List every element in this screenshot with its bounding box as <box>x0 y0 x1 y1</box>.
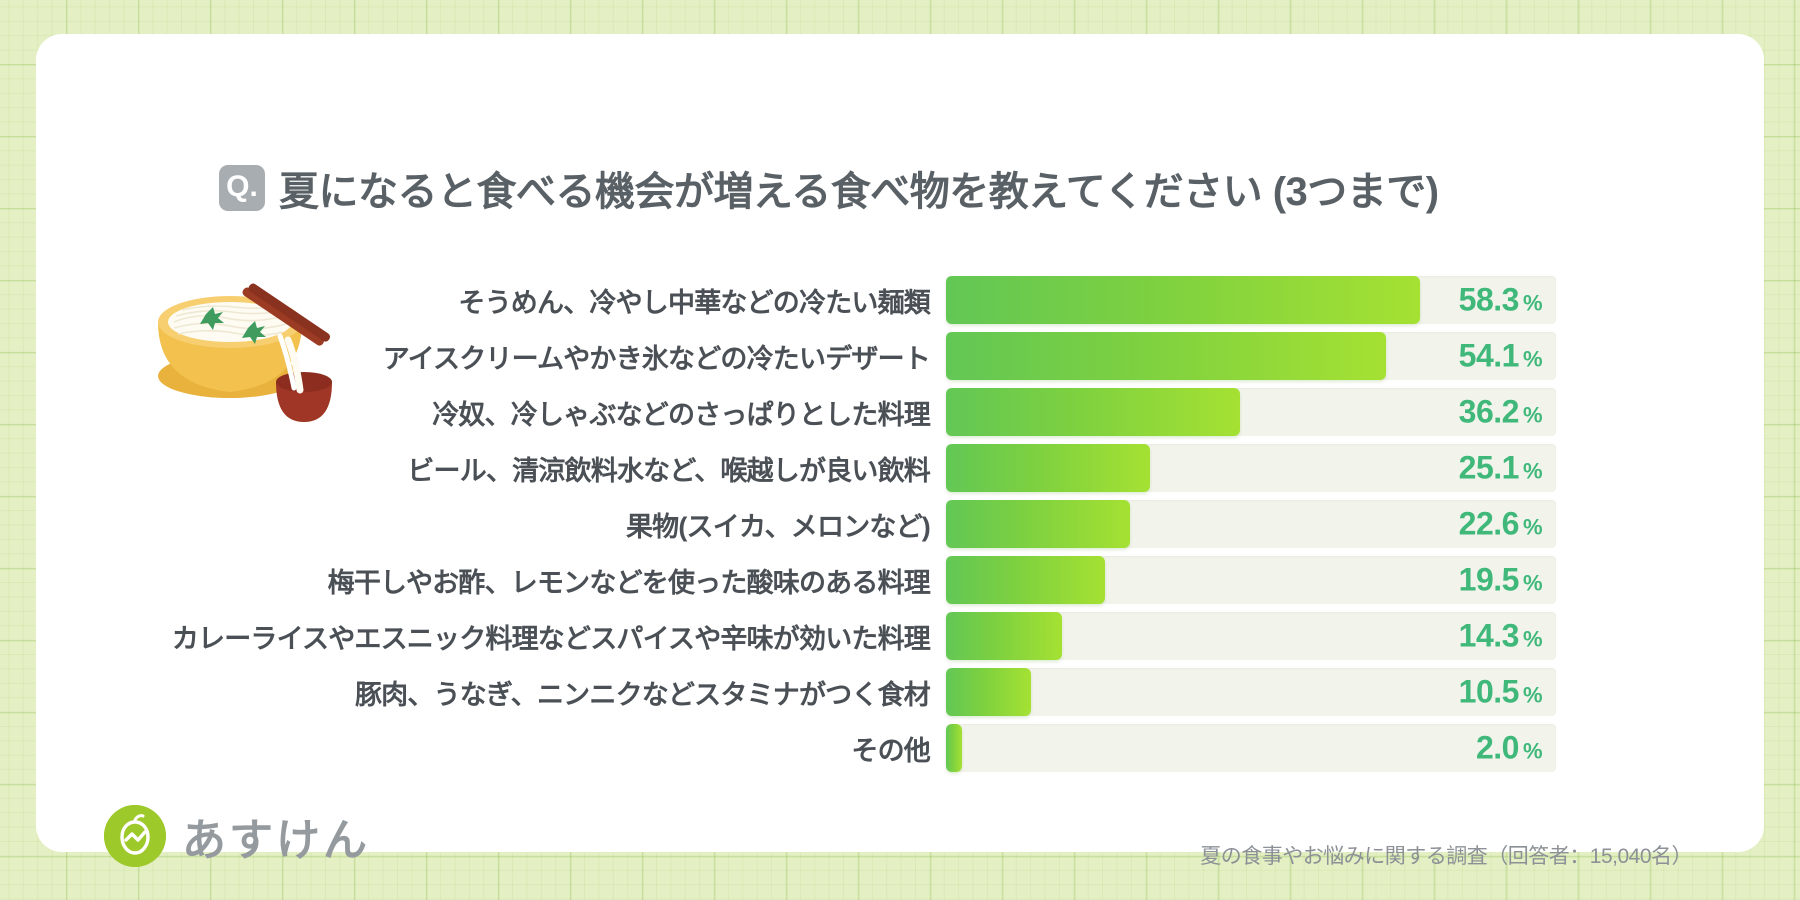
bar-track: 14.3% <box>946 612 1556 660</box>
bar-fill <box>946 500 1130 548</box>
bar-value-unit: % <box>1523 403 1542 428</box>
bar-value: 58.3% <box>1459 282 1542 319</box>
bar-fill <box>946 388 1240 436</box>
bar-value-number: 25.1 <box>1459 450 1519 486</box>
bar-value-number: 2.0 <box>1476 730 1519 766</box>
bar-track: 2.0% <box>946 724 1556 772</box>
bar-label: カレーライスやエスニック料理などスパイスや辛味が効いた料理 <box>36 617 946 656</box>
title-row: Q. 夏になると食べる機会が増える食べ物を教えてください (3つまで) <box>219 159 1439 217</box>
bar-value: 36.2% <box>1459 394 1542 431</box>
bar-fill <box>946 332 1386 380</box>
bar-label: その他 <box>36 729 946 768</box>
chart-row: アイスクリームやかき氷などの冷たいデザート 54.1% <box>36 328 1764 384</box>
chart-row: ビール、清涼飲料水など、喉越しが良い飲料 25.1% <box>36 440 1764 496</box>
bar-value: 2.0% <box>1476 730 1542 767</box>
bar-value-number: 58.3 <box>1459 282 1519 318</box>
bar-track: 22.6% <box>946 500 1556 548</box>
chart-row: 梅干しやお酢、レモンなどを使った酸味のある料理 19.5% <box>36 552 1764 608</box>
bar-value-unit: % <box>1523 683 1542 708</box>
bar-value: 25.1% <box>1459 450 1542 487</box>
bar-fill <box>946 612 1062 660</box>
page-title: 夏になると食べる機会が増える食べ物を教えてください (3つまで) <box>279 159 1439 217</box>
brand-name: あすけん <box>182 804 370 868</box>
bar-value-number: 10.5 <box>1459 674 1519 710</box>
bar-label: アイスクリームやかき氷などの冷たいデザート <box>36 337 946 376</box>
bar-label: そうめん、冷やし中華などの冷たい麺類 <box>36 281 946 320</box>
chart-card: Q. 夏になると食べる機会が増える食べ物を教えてください (3つまで) <box>36 34 1764 852</box>
bar-track: 36.2% <box>946 388 1556 436</box>
bar-value-number: 54.1 <box>1459 338 1519 374</box>
bar-value-number: 14.3 <box>1459 618 1519 654</box>
chart-row: カレーライスやエスニック料理などスパイスや辛味が効いた料理 14.3% <box>36 608 1764 664</box>
bar-chart: そうめん、冷やし中華などの冷たい麺類 58.3% アイスクリームやかき氷などの冷… <box>36 272 1764 776</box>
bar-label: 果物(スイカ、メロンなど) <box>36 505 946 544</box>
bar-value: 14.3% <box>1459 618 1542 655</box>
bar-track: 54.1% <box>946 332 1556 380</box>
chart-row: その他 2.0% <box>36 720 1764 776</box>
bar-track: 58.3% <box>946 276 1556 324</box>
bar-track: 10.5% <box>946 668 1556 716</box>
bar-value: 54.1% <box>1459 338 1542 375</box>
bar-value-unit: % <box>1523 739 1542 764</box>
bar-value-number: 19.5 <box>1459 562 1519 598</box>
question-badge: Q. <box>219 165 265 211</box>
bar-value: 22.6% <box>1459 506 1542 543</box>
bar-label: 豚肉、うなぎ、ニンニクなどスタミナがつく食材 <box>36 673 946 712</box>
chart-row: そうめん、冷やし中華などの冷たい麺類 58.3% <box>36 272 1764 328</box>
apple-logo-icon <box>104 805 166 867</box>
bar-value-number: 36.2 <box>1459 394 1519 430</box>
bar-fill <box>946 444 1150 492</box>
bar-value-unit: % <box>1523 571 1542 596</box>
bar-fill <box>946 724 962 772</box>
bar-fill <box>946 668 1031 716</box>
bar-fill <box>946 556 1105 604</box>
bar-value-unit: % <box>1523 627 1542 652</box>
chart-row: 果物(スイカ、メロンなど) 22.6% <box>36 496 1764 552</box>
bar-value: 19.5% <box>1459 562 1542 599</box>
bar-fill <box>946 276 1420 324</box>
bar-track: 19.5% <box>946 556 1556 604</box>
bar-label: 梅干しやお酢、レモンなどを使った酸味のある料理 <box>36 561 946 600</box>
bar-value-unit: % <box>1523 515 1542 540</box>
bar-value-unit: % <box>1523 291 1542 316</box>
bar-value: 10.5% <box>1459 674 1542 711</box>
bar-value-unit: % <box>1523 347 1542 372</box>
bar-value-unit: % <box>1523 459 1542 484</box>
source-note: 夏の食事やお悩みに関する調査（回答者：15,040名） <box>1200 840 1692 870</box>
bar-value-number: 22.6 <box>1459 506 1519 542</box>
brand-logo: あすけん <box>104 804 370 868</box>
chart-row: 豚肉、うなぎ、ニンニクなどスタミナがつく食材 10.5% <box>36 664 1764 720</box>
bar-label: ビール、清涼飲料水など、喉越しが良い飲料 <box>36 449 946 488</box>
bar-track: 25.1% <box>946 444 1556 492</box>
bar-label: 冷奴、冷しゃぶなどのさっぱりとした料理 <box>36 393 946 432</box>
chart-row: 冷奴、冷しゃぶなどのさっぱりとした料理 36.2% <box>36 384 1764 440</box>
